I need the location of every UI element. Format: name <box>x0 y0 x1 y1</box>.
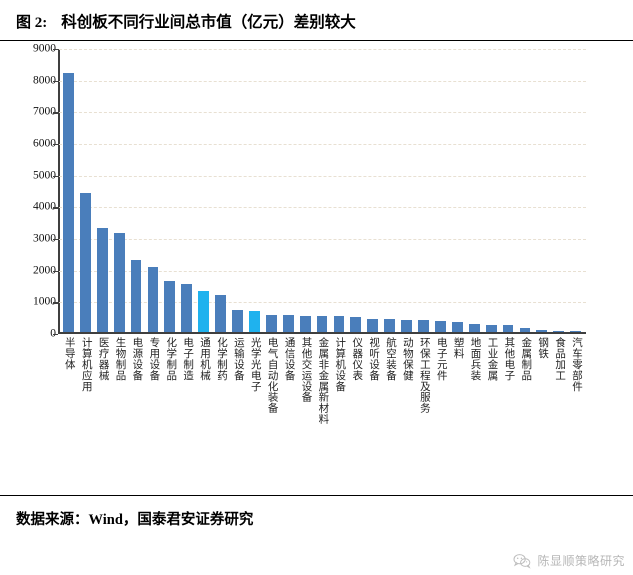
y-axis-tick-mark <box>53 176 58 177</box>
y-axis-tick-mark <box>53 207 58 208</box>
bar-slot <box>364 49 381 332</box>
x-axis-label-slot: 地面兵装 <box>466 337 483 381</box>
x-axis-label-slot: 电子制造 <box>178 337 195 381</box>
x-axis-tick-label: 电源设备 <box>131 337 142 381</box>
plot-shell: 0100020003000400050006000700080009000 半导… <box>0 49 633 469</box>
y-axis-tick-mark <box>53 271 58 272</box>
bar-slot <box>178 49 195 332</box>
plot-box <box>58 49 586 334</box>
bar[interactable] <box>63 73 74 332</box>
bar[interactable] <box>503 325 514 332</box>
x-axis-tick-label: 电子制造 <box>181 337 192 381</box>
bar-slot <box>128 49 145 332</box>
x-axis-line <box>58 332 586 334</box>
chart-area: 0100020003000400050006000700080009000 半导… <box>0 41 633 478</box>
x-axis-tick-label: 计算机设备 <box>334 337 345 392</box>
bar-slot <box>297 49 314 332</box>
bar[interactable] <box>215 295 226 332</box>
bar-slot <box>246 49 263 332</box>
bar-slot <box>145 49 162 332</box>
x-axis-tick-label: 通用机械 <box>198 337 209 381</box>
x-axis-tick-label: 其他交运设备 <box>300 337 311 402</box>
x-axis-tick-label: 地面兵装 <box>469 337 480 381</box>
x-axis-label-slot: 金属制品 <box>516 337 533 381</box>
x-axis-tick-label: 生物制品 <box>114 337 125 381</box>
x-axis-label-slot: 生物制品 <box>111 337 128 381</box>
bar[interactable] <box>350 317 361 333</box>
x-axis-label-slot: 仪器仪表 <box>347 337 364 381</box>
bar[interactable] <box>114 233 125 332</box>
bar-slot <box>533 49 550 332</box>
x-axis-label-slot: 通用机械 <box>195 337 212 381</box>
bar[interactable] <box>401 320 412 333</box>
x-axis-label-slot: 专用设备 <box>145 337 162 381</box>
figure-container: 图 2: 科创板不同行业间总市值（亿元）差别较大 010002000300040… <box>0 0 633 575</box>
watermark: 陈显顺策略研究 <box>513 552 625 569</box>
y-axis-tick-mark <box>53 144 58 145</box>
x-axis-label-slot: 航空装备 <box>381 337 398 381</box>
x-axis-tick-labels: 半导体计算机应用医疗器械生物制品电源设备专用设备化学制品电子制造通用机械化学制药… <box>60 337 584 477</box>
x-axis-tick-label: 汽车零部件 <box>570 337 581 392</box>
x-axis-tick-label: 计算机应用 <box>80 337 91 392</box>
x-axis-tick-label: 专用设备 <box>148 337 159 381</box>
bar[interactable] <box>164 281 175 332</box>
bar-slot <box>381 49 398 332</box>
x-axis-label-slot: 动物保健 <box>398 337 415 381</box>
x-axis-tick-label: 仪器仪表 <box>351 337 362 381</box>
x-axis-tick-label: 塑料 <box>452 337 463 359</box>
bar[interactable] <box>469 324 480 332</box>
bar-slot <box>314 49 331 332</box>
bar-slot <box>280 49 297 332</box>
x-axis-label-slot: 工业金属 <box>483 337 500 381</box>
x-axis-label-slot: 食品加工 <box>550 337 567 381</box>
watermark-label: 陈显顺策略研究 <box>537 552 625 569</box>
bar[interactable] <box>97 228 108 332</box>
y-axis-tick-mark <box>53 49 58 50</box>
x-axis-label-slot: 计算机设备 <box>331 337 348 392</box>
bar[interactable] <box>198 291 209 332</box>
y-axis-tick-mark <box>53 334 58 335</box>
x-axis-label-slot: 电源设备 <box>128 337 145 381</box>
bar[interactable] <box>283 315 294 332</box>
x-axis-label-slot: 通信设备 <box>280 337 297 381</box>
figure-title-bar: 图 2: 科创板不同行业间总市值（亿元）差别较大 <box>0 0 633 41</box>
x-axis-tick-label: 航空装备 <box>384 337 395 381</box>
x-axis-label-slot: 电子元件 <box>432 337 449 381</box>
x-axis-label-slot: 医疗器械 <box>94 337 111 381</box>
y-axis-tick-mark <box>53 112 58 113</box>
bar-slot <box>161 49 178 332</box>
x-axis-tick-label: 半导体 <box>63 337 74 370</box>
bar[interactable] <box>536 330 547 332</box>
wechat-icon <box>513 553 531 569</box>
x-axis-label-slot: 半导体 <box>60 337 77 370</box>
bar[interactable] <box>249 311 260 333</box>
x-axis-tick-label: 工业金属 <box>486 337 497 381</box>
bar[interactable] <box>131 260 142 332</box>
bar[interactable] <box>452 322 463 332</box>
bar[interactable] <box>80 193 91 332</box>
bar[interactable] <box>570 331 581 332</box>
bar-slot <box>483 49 500 332</box>
x-axis-tick-label: 金属制品 <box>520 337 531 381</box>
bar-slot <box>516 49 533 332</box>
bar-slot <box>60 49 77 332</box>
bar[interactable] <box>300 316 311 333</box>
y-axis-tick-mark <box>53 302 58 303</box>
figure-footer: 数据来源：Wind，国泰君安证券研究 陈显顺策略研究 <box>0 495 633 575</box>
x-axis-tick-label: 环保工程及服务 <box>418 337 429 413</box>
x-axis-tick-label: 其他电子 <box>503 337 514 381</box>
bar-slot <box>94 49 111 332</box>
bar-slot <box>432 49 449 332</box>
x-axis-label-slot: 钢铁 <box>533 337 550 359</box>
bar[interactable] <box>435 321 446 333</box>
bar-slot <box>229 49 246 332</box>
bar-slot <box>77 49 94 332</box>
bar[interactable] <box>486 325 497 333</box>
x-axis-label-slot: 环保工程及服务 <box>415 337 432 413</box>
x-axis-tick-label: 钢铁 <box>536 337 547 359</box>
bar-slot <box>500 49 517 332</box>
bar-slot <box>347 49 364 332</box>
y-axis-tick-mark <box>53 239 58 240</box>
x-axis-label-slot: 化学制品 <box>161 337 178 381</box>
y-axis-tick-mark <box>53 81 58 82</box>
figure-number-label: 图 2: <box>16 11 47 32</box>
bar-slot <box>567 49 584 332</box>
x-axis-label-slot: 光学光电子 <box>246 337 263 392</box>
bar[interactable] <box>181 284 192 332</box>
x-axis-label-slot: 计算机应用 <box>77 337 94 392</box>
x-axis-tick-label: 运输设备 <box>232 337 243 381</box>
bar[interactable] <box>317 316 328 332</box>
x-axis-label-slot: 视听设备 <box>364 337 381 381</box>
page-title: 科创板不同行业间总市值（亿元）差别较大 <box>61 10 356 32</box>
bar[interactable] <box>520 328 531 332</box>
x-axis-label-slot: 电气自动化装备 <box>263 337 280 413</box>
bar-slot <box>466 49 483 332</box>
x-axis-tick-label: 食品加工 <box>553 337 564 381</box>
bar-slot <box>212 49 229 332</box>
x-axis-tick-label: 视听设备 <box>367 337 378 381</box>
x-axis-tick-label: 动物保健 <box>401 337 412 381</box>
x-axis-tick-label: 光学光电子 <box>249 337 260 392</box>
bar[interactable] <box>367 319 378 333</box>
bar-slot <box>398 49 415 332</box>
bar[interactable] <box>266 315 277 333</box>
x-axis-label-slot: 金属非金属新材料 <box>314 337 331 424</box>
bar[interactable] <box>418 320 429 333</box>
bar-slot <box>195 49 212 332</box>
x-axis-tick-label: 医疗器械 <box>97 337 108 381</box>
x-axis-tick-label: 化学制药 <box>215 337 226 381</box>
x-axis-label-slot: 运输设备 <box>229 337 246 381</box>
data-source-note: 数据来源：Wind，国泰君安证券研究 <box>16 508 253 529</box>
x-axis-label-slot: 塑料 <box>449 337 466 359</box>
bar-series <box>60 49 584 332</box>
x-axis-tick-label: 金属非金属新材料 <box>317 337 328 424</box>
x-axis-tick-label: 电气自动化装备 <box>266 337 277 413</box>
x-axis-label-slot: 汽车零部件 <box>567 337 584 392</box>
bar-slot <box>550 49 567 332</box>
bar-slot <box>449 49 466 332</box>
x-axis-label-slot: 其他交运设备 <box>297 337 314 402</box>
bar[interactable] <box>553 331 564 332</box>
x-axis-tick-label: 电子元件 <box>435 337 446 381</box>
x-axis-tick-label: 化学制品 <box>165 337 176 381</box>
bar[interactable] <box>334 316 345 332</box>
bar[interactable] <box>384 319 395 333</box>
x-axis-tick-label: 通信设备 <box>283 337 294 381</box>
bar-slot <box>331 49 348 332</box>
y-axis-tick-labels: 0100020003000400050006000700080009000 <box>10 49 56 334</box>
bar-slot <box>263 49 280 332</box>
bar[interactable] <box>148 267 159 332</box>
bar-slot <box>111 49 128 332</box>
bar[interactable] <box>232 310 243 333</box>
bar-slot <box>415 49 432 332</box>
x-axis-label-slot: 化学制药 <box>212 337 229 381</box>
x-axis-label-slot: 其他电子 <box>500 337 517 381</box>
